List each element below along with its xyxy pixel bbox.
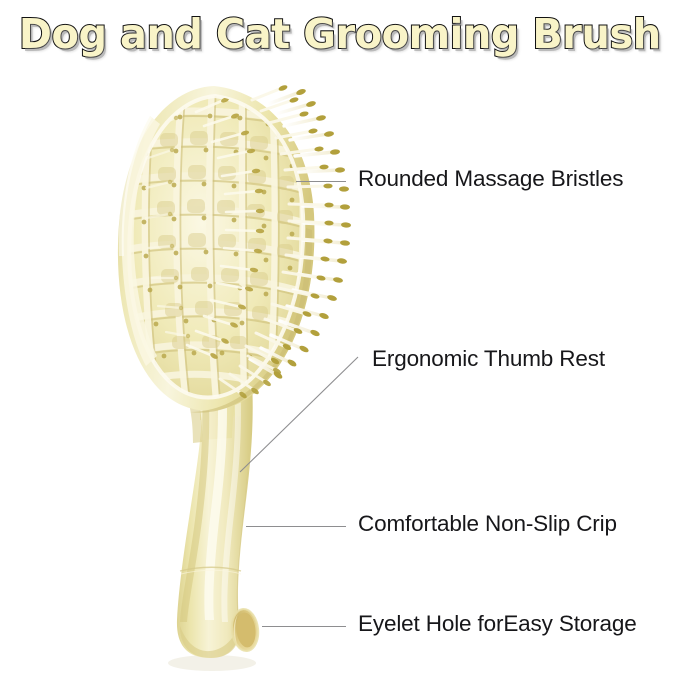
callout-label-ergonomic-thumb-rest: Ergonomic Thumb Rest bbox=[372, 346, 605, 372]
leader-line-eyelet bbox=[262, 626, 346, 627]
callout-label-rounded-massage-bristles: Rounded Massage Bristles bbox=[358, 166, 623, 192]
leader-line-bristles bbox=[296, 181, 346, 182]
leader-line-grip bbox=[246, 526, 346, 527]
callout-label-comfortable-non-slip-grip: Comfortable Non-Slip Crip bbox=[358, 511, 617, 537]
callout-label-eyelet-hole-storage: Eyelet Hole forEasy Storage bbox=[358, 611, 637, 637]
infographic-canvas: Dog and Cat Grooming Brush Rounded Massa… bbox=[0, 0, 679, 679]
leader-line-thumb-rest bbox=[230, 345, 370, 485]
product-image-grooming-brush bbox=[0, 0, 679, 679]
